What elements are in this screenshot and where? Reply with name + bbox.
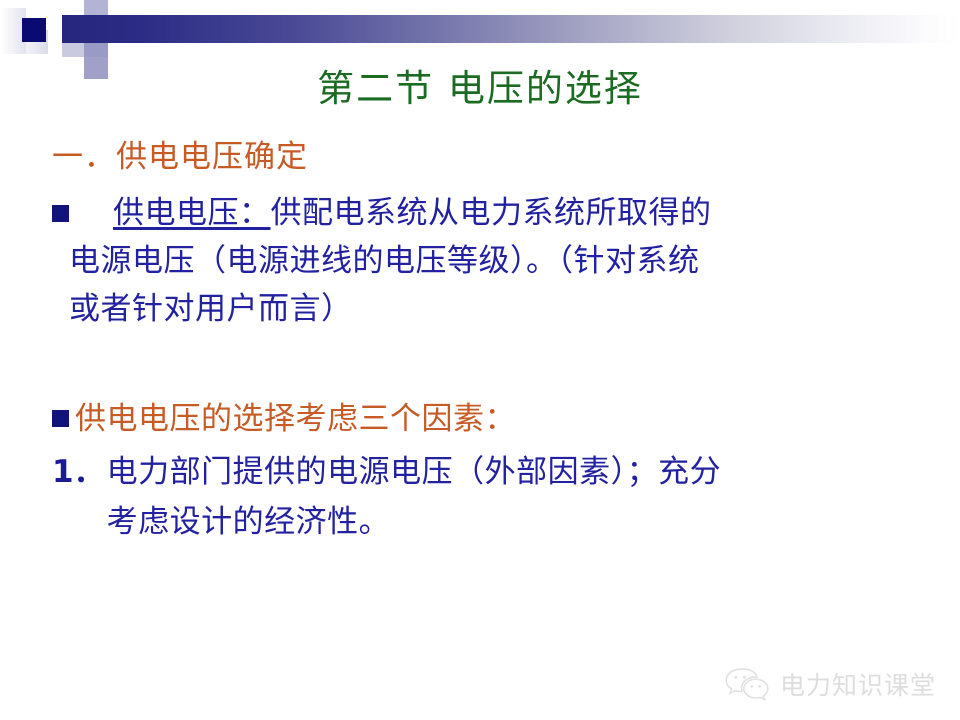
wechat-icon <box>724 666 770 702</box>
banner-square <box>108 0 134 15</box>
numbered-item-1: 1． 电力部门提供的电源电压（外部因素）；充分 考虑设计的经济性。 <box>52 447 932 547</box>
definition-rest: 供配电系统从电力系统所取得的 <box>271 195 712 231</box>
definition-term: 供电电压： <box>113 195 271 231</box>
section-heading: 一．供电电压确定 <box>52 135 932 179</box>
bullet-line: 电源电压（电源进线的电压等级）。（针对系统 <box>69 237 932 285</box>
watermark: 电力知识课堂 <box>724 666 936 702</box>
bullet-line: 或者针对用户而言） <box>69 285 932 333</box>
watermark-label: 电力知识课堂 <box>780 666 936 702</box>
banner-square <box>84 43 108 57</box>
slide-body: 一．供电电压确定 供电电压：供配电系统从电力系统所取得的 电源电压（电源进线的电… <box>52 135 932 547</box>
bullet-item-definition: 供电电压：供配电系统从电力系统所取得的 电源电压（电源进线的电压等级）。（针对系… <box>52 189 932 333</box>
banner-square <box>62 0 84 16</box>
bullet-text-block: 供电电压的选择考虑三个因素： <box>75 395 932 443</box>
square-bullet-icon <box>52 205 69 222</box>
bullet-item-factors: 供电电压的选择考虑三个因素： <box>52 395 932 443</box>
numbered-text-block: 电力部门提供的电源电压（外部因素）；充分 考虑设计的经济性。 <box>107 447 932 547</box>
numbered-line: 电力部门提供的电源电压（外部因素）；充分 <box>107 447 932 497</box>
list-number: 1． <box>52 447 107 497</box>
bullet-text-block: 供电电压：供配电系统从电力系统所取得的 电源电压（电源进线的电压等级）。（针对系… <box>69 189 932 333</box>
bullet-line: 供电电压的选择考虑三个因素： <box>75 395 932 443</box>
numbered-line: 考虑设计的经济性。 <box>107 497 932 547</box>
square-bullet-icon <box>52 410 69 427</box>
spacer <box>52 333 932 385</box>
banner-gradient-bar <box>62 15 960 43</box>
bullet-line: 供电电压：供配电系统从电力系统所取得的 <box>69 189 932 237</box>
banner-square <box>62 43 84 57</box>
banner-square <box>84 0 108 16</box>
slide-title: 第二节 电压的选择 <box>0 58 960 112</box>
banner-accent-square <box>22 18 46 42</box>
